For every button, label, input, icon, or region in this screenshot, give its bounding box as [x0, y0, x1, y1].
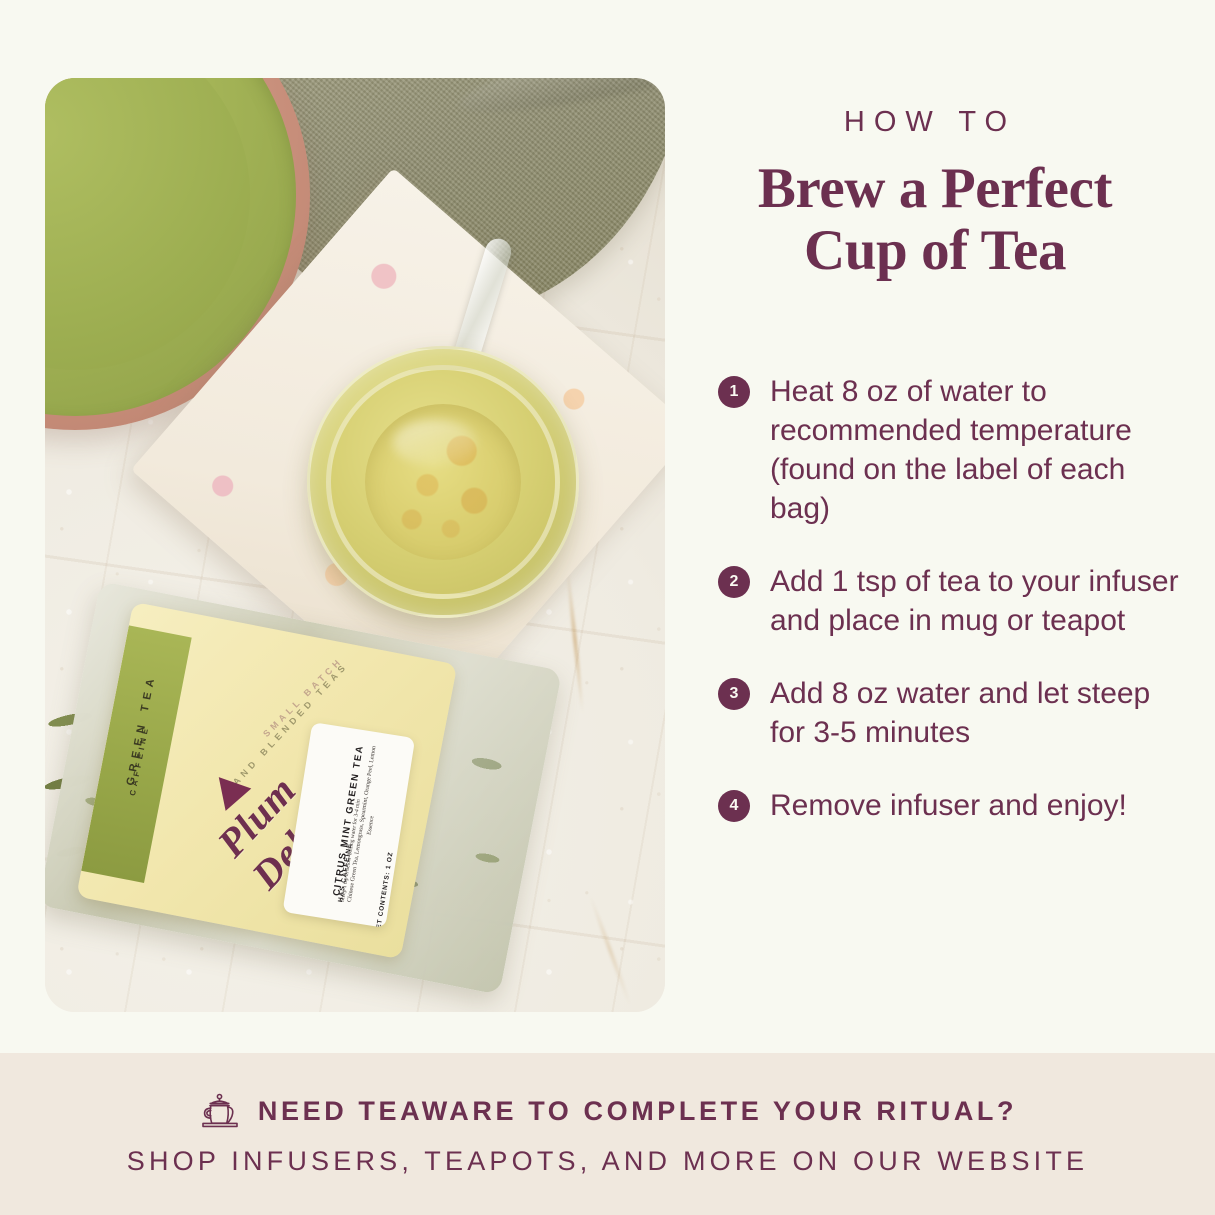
step-number-badge: 1 — [718, 376, 750, 408]
instructions-panel: HOW TO Brew a Perfect Cup of Tea 1 Heat … — [700, 0, 1190, 1053]
step-text: Add 8 oz water and let steep for 3-5 min… — [770, 674, 1182, 752]
footer-cta-band: NEED TEAWARE TO COMPLETE YOUR RITUAL? SH… — [0, 1053, 1215, 1215]
step-text: Remove infuser and enjoy! — [770, 786, 1127, 825]
title-line-1: Brew a Perfect — [700, 158, 1170, 220]
page-title: Brew a Perfect Cup of Tea — [700, 158, 1170, 281]
teapot-icon — [198, 1092, 242, 1132]
title-line-2: Cup of Tea — [700, 220, 1170, 282]
hero-photo: GREEN TEA CAFFEINE SMALL BATCH HAND BLEN… — [45, 78, 665, 1012]
brewed-tea-liquid — [365, 404, 521, 560]
infographic-page: GREEN TEA CAFFEINE SMALL BATCH HAND BLEN… — [0, 0, 1215, 1215]
footer-headline: NEED TEAWARE TO COMPLETE YOUR RITUAL? — [258, 1096, 1017, 1127]
teacup-rim — [326, 365, 560, 599]
step-item: 3 Add 8 oz water and let steep for 3-5 m… — [718, 674, 1188, 752]
tea-surface-highlight — [393, 420, 477, 467]
glass-teacup — [307, 346, 579, 618]
step-item: 1 Heat 8 oz of water to recommended temp… — [718, 372, 1188, 528]
plate-well — [45, 78, 250, 370]
steps-list: 1 Heat 8 oz of water to recommended temp… — [718, 372, 1188, 825]
step-number-badge: 2 — [718, 566, 750, 598]
step-text: Heat 8 oz of water to recommended temper… — [770, 372, 1182, 528]
step-number-badge: 4 — [718, 790, 750, 822]
package-front-label: GREEN TEA CAFFEINE SMALL BATCH HAND BLEN… — [76, 602, 457, 959]
step-text: Add 1 tsp of tea to your infuser and pla… — [770, 562, 1182, 640]
napkin-fold — [453, 78, 665, 131]
footer-line-1-row: NEED TEAWARE TO COMPLETE YOUR RITUAL? — [198, 1092, 1017, 1132]
footer-subline: SHOP INFUSERS, TEAPOTS, AND MORE ON OUR … — [127, 1146, 1089, 1177]
photo-scene: GREEN TEA CAFFEINE SMALL BATCH HAND BLEN… — [45, 78, 665, 1012]
step-item: 4 Remove infuser and enjoy! — [718, 786, 1188, 825]
step-item: 2 Add 1 tsp of tea to your infuser and p… — [718, 562, 1188, 640]
kicker-text: HOW TO — [700, 106, 1160, 139]
step-number-badge: 3 — [718, 678, 750, 710]
